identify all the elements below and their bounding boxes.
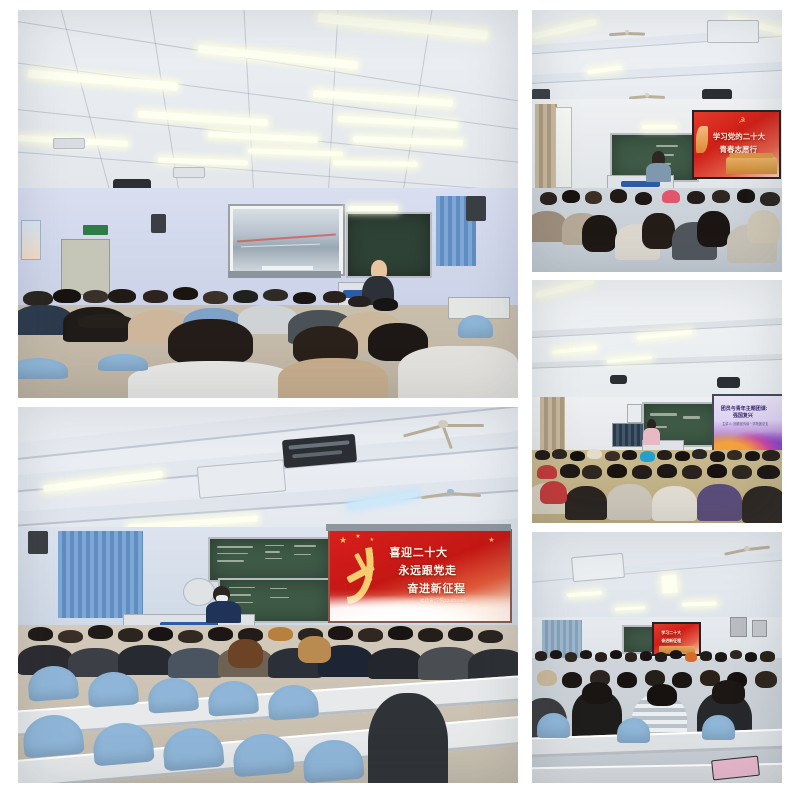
photo-bottom-left: ★ ★ ★ ★ 喜迎二十大 永远跟党走 奋进新征程 福建省*学院22-03 04… [18, 407, 518, 783]
presentation-screen: 团员与青年主题团课: 强国复兴 主讲人: 团委宣传部 * 学院团总支 [712, 394, 782, 451]
photo-collage: ★ ★ ★ ★ 喜迎二十大 永远跟党走 奋进新征程 福建省*学院22-03 04… [0, 0, 800, 800]
wall-frame [730, 617, 747, 637]
audience [532, 183, 782, 272]
hat [78, 314, 133, 328]
audience [532, 445, 782, 523]
chalkboard-upper [208, 537, 332, 582]
photo-top-right: ☭ 学习党的二十大 青春志愿行 [532, 10, 782, 272]
wall-speaker [28, 531, 48, 554]
ppt-title-line-2: 强国复兴 [733, 412, 753, 419]
audience [18, 282, 518, 398]
led-display: ☭ 学习党的二十大 青春志愿行 [692, 110, 781, 180]
air-conditioner-vent [173, 167, 205, 178]
storage-cabinet [612, 423, 644, 447]
ceiling-light [661, 574, 678, 593]
led-title-line-1: 学习党的二十大 [713, 131, 766, 142]
window-curtain [58, 531, 143, 617]
screen-line-2: 奋进新征程 [661, 638, 681, 644]
party-emblem-icon: ☭ [738, 116, 745, 125]
photo-bottom-right: 学习二十大 奋进新征程 [532, 532, 782, 783]
classroom-scene-3: 团员与青年主题团课: 强国复兴 主讲人: 团委宣传部 * 学院团总支 [532, 280, 782, 523]
projection-screen [228, 204, 345, 276]
lecture-hall-scene-4: ★ ★ ★ ★ 喜迎二十大 永远跟党走 奋进新征程 福建省*学院22-03 04… [18, 407, 518, 783]
ppt-title-line-1: 团员与青年主题团课: [721, 405, 768, 412]
banner-line-1: 喜迎二十大 [389, 544, 447, 560]
wall-frame [752, 620, 767, 637]
ceiling-fan [722, 540, 772, 558]
classroom-scene-5: 学习二十大 奋进新征程 [532, 532, 782, 783]
screen-line-1: 学习二十大 [661, 630, 681, 636]
red-banner: ★ ★ ★ ★ 喜迎二十大 永远跟党走 奋进新征程 福建省*学院22-03 04… [328, 529, 512, 623]
board-light [642, 125, 677, 129]
classroom-scene-2: ☭ 学习党的二十大 青春志愿行 [532, 10, 782, 272]
wall-poster [21, 220, 41, 261]
ceiling-fan [418, 482, 483, 501]
air-conditioner-vent [707, 20, 759, 43]
air-conditioner-unit [571, 552, 625, 581]
projector [610, 375, 628, 385]
wall-speaker [151, 214, 166, 233]
photo-top-left [18, 10, 518, 398]
window [555, 107, 572, 188]
ceiling-fan [398, 411, 488, 437]
exit-sign [83, 225, 108, 234]
projector [717, 377, 740, 388]
speaker-person [643, 428, 660, 445]
wall-frame [627, 404, 642, 423]
chalkboard [346, 212, 433, 278]
ceiling-fan [607, 26, 647, 39]
speaker-person [646, 163, 671, 181]
wall-speaker [466, 196, 486, 221]
photo-mid-right: 团员与青年主题团课: 强国复兴 主讲人: 团委宣传部 * 学院团总支 [532, 280, 782, 523]
banner-line-2: 永远跟党走 [398, 562, 456, 578]
air-conditioner-vent [53, 138, 85, 149]
lecture-hall-scene-1 [18, 10, 518, 398]
